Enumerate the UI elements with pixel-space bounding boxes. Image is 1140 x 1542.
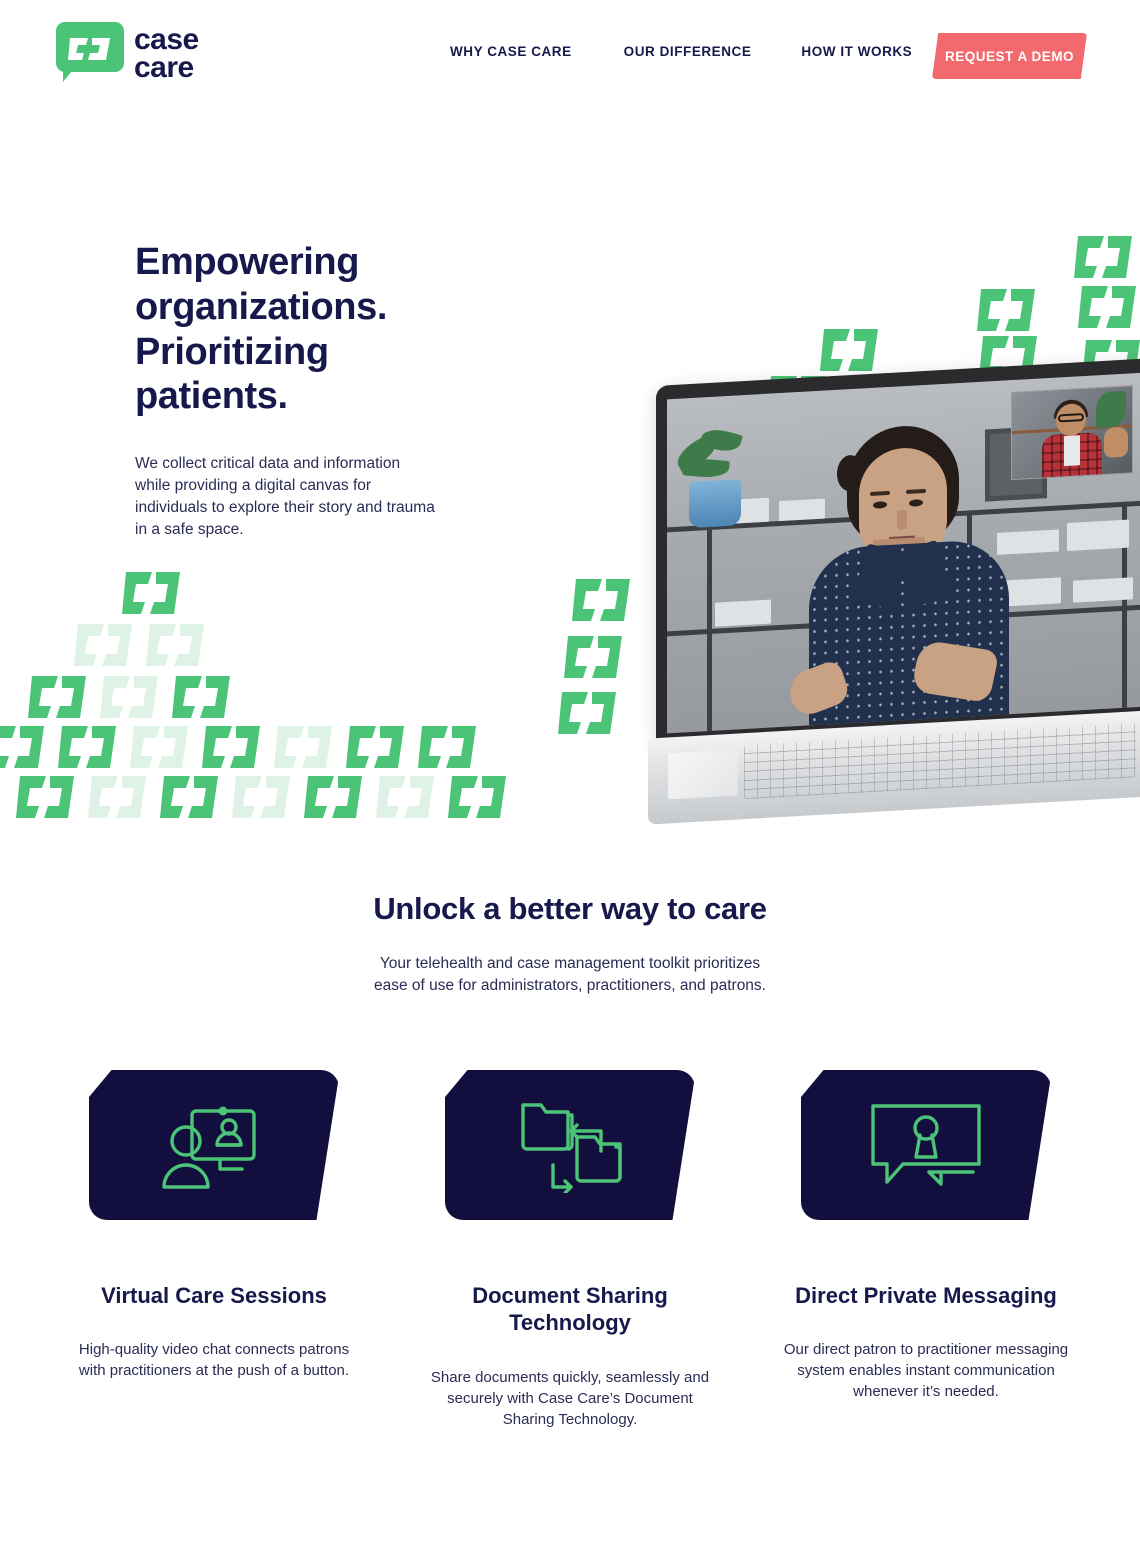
bracket-decor-icon [200,722,262,774]
feature-card-list: Virtual Care Sessions High-quality video… [0,1070,1140,1430]
bracket-decor-icon [374,772,436,824]
hero-copy: Empowering organizations. Prioritizing p… [135,240,465,541]
bracket-decor-icon [556,688,618,740]
video-call-scene [667,373,1140,734]
bracket-decor-icon [344,722,406,774]
bracket-decor-icon [170,672,232,724]
bracket-decor-icon [975,285,1037,337]
hero-title-line-1: Empowering [135,241,359,283]
laptop-screen [667,373,1140,734]
feature-card-title: Document Sharing Technology [425,1282,715,1337]
laptop-lid [656,358,1140,748]
bracket-decor-icon [158,772,220,824]
bracket-decor-icon [302,772,364,824]
nav-item-our-difference[interactable]: OUR DIFFERENCE [624,44,752,59]
nav-item-why-case-care[interactable]: WHY CASE CARE [450,44,572,59]
feature-card-title: Direct Private Messaging [781,1282,1071,1310]
video-call-main-participant [785,419,1035,733]
page-title: Empowering organizations. Prioritizing p… [135,240,465,419]
hero-section: Empowering organizations. Prioritizing p… [0,0,1140,827]
bracket-decor-icon [562,632,624,684]
nav-item-how-it-works[interactable]: HOW IT WORKS [801,44,912,59]
logo[interactable]: case care [56,22,199,84]
logo-wordmark: case care [134,26,199,81]
hero-title-line-2: organizations. [135,286,387,328]
folder-exchange-icon [515,1097,625,1193]
bracket-decor-icon [818,325,880,377]
feature-card-direct-private-messaging[interactable]: Direct Private Messaging Our direct patr… [781,1070,1071,1430]
bracket-decor-icon [144,620,206,672]
bracket-decor-icon [120,568,182,620]
feature-card-icon-panel [445,1070,695,1220]
bracket-decor-icon [1072,232,1134,284]
bracket-decor-icon [98,672,160,724]
request-a-demo-button[interactable]: REQUEST A DEMO [932,33,1087,79]
laptop-trackpad [668,750,738,800]
hero-laptop-image [648,372,1140,827]
logo-word-care: care [134,54,199,82]
feature-card-description: Our direct patron to practitioner messag… [781,1339,1071,1402]
main-navigation: WHY CASE CARE OUR DIFFERENCE HOW IT WORK… [450,44,912,59]
feature-card-virtual-care-sessions[interactable]: Virtual Care Sessions High-quality video… [69,1070,359,1430]
video-call-pip-participant [1011,385,1133,480]
logo-speech-bubble-icon [56,22,124,84]
bracket-decor-icon [0,722,46,774]
feature-card-description: High-quality video chat connects patrons… [69,1339,359,1381]
bracket-decor-icon [230,772,292,824]
feature-card-document-sharing-technology[interactable]: Document Sharing Technology Share docume… [425,1070,715,1430]
site-header: case care WHY CASE CARE OUR DIFFERENCE H… [0,0,1140,112]
hero-subtitle: We collect critical data and information… [135,453,435,541]
bracket-decor-icon [272,722,334,774]
bracket-decor-icon [1076,282,1138,334]
bracket-decor-icon [128,722,190,774]
bracket-decor-icon [570,575,632,627]
feature-card-icon-panel [89,1070,339,1220]
feature-card-title: Virtual Care Sessions [69,1282,359,1310]
bracket-decor-icon [86,772,148,824]
features-title: Unlock a better way to care [0,891,1140,927]
secure-chat-keyhole-icon [867,1102,985,1188]
features-section: Unlock a better way to care Your telehea… [0,827,1140,1430]
feature-card-icon-panel [801,1070,1051,1220]
video-call-icon [158,1099,270,1191]
bracket-decor-icon [56,722,118,774]
bracket-decor-icon [26,672,88,724]
laptop-keyboard [744,723,1136,799]
logo-word-case: case [134,26,199,54]
hero-title-line-4: patients. [135,375,288,417]
landing-page: Empowering organizations. Prioritizing p… [0,0,1140,1542]
bracket-decor-icon [446,772,508,824]
bracket-decor-icon [14,772,76,824]
feature-card-description: Share documents quickly, seamlessly and … [425,1367,715,1430]
bracket-decor-icon [416,722,478,774]
features-subtitle: Your telehealth and case management tool… [370,953,770,998]
hero-title-line-3: Prioritizing [135,331,329,373]
bracket-decor-icon [72,620,134,672]
